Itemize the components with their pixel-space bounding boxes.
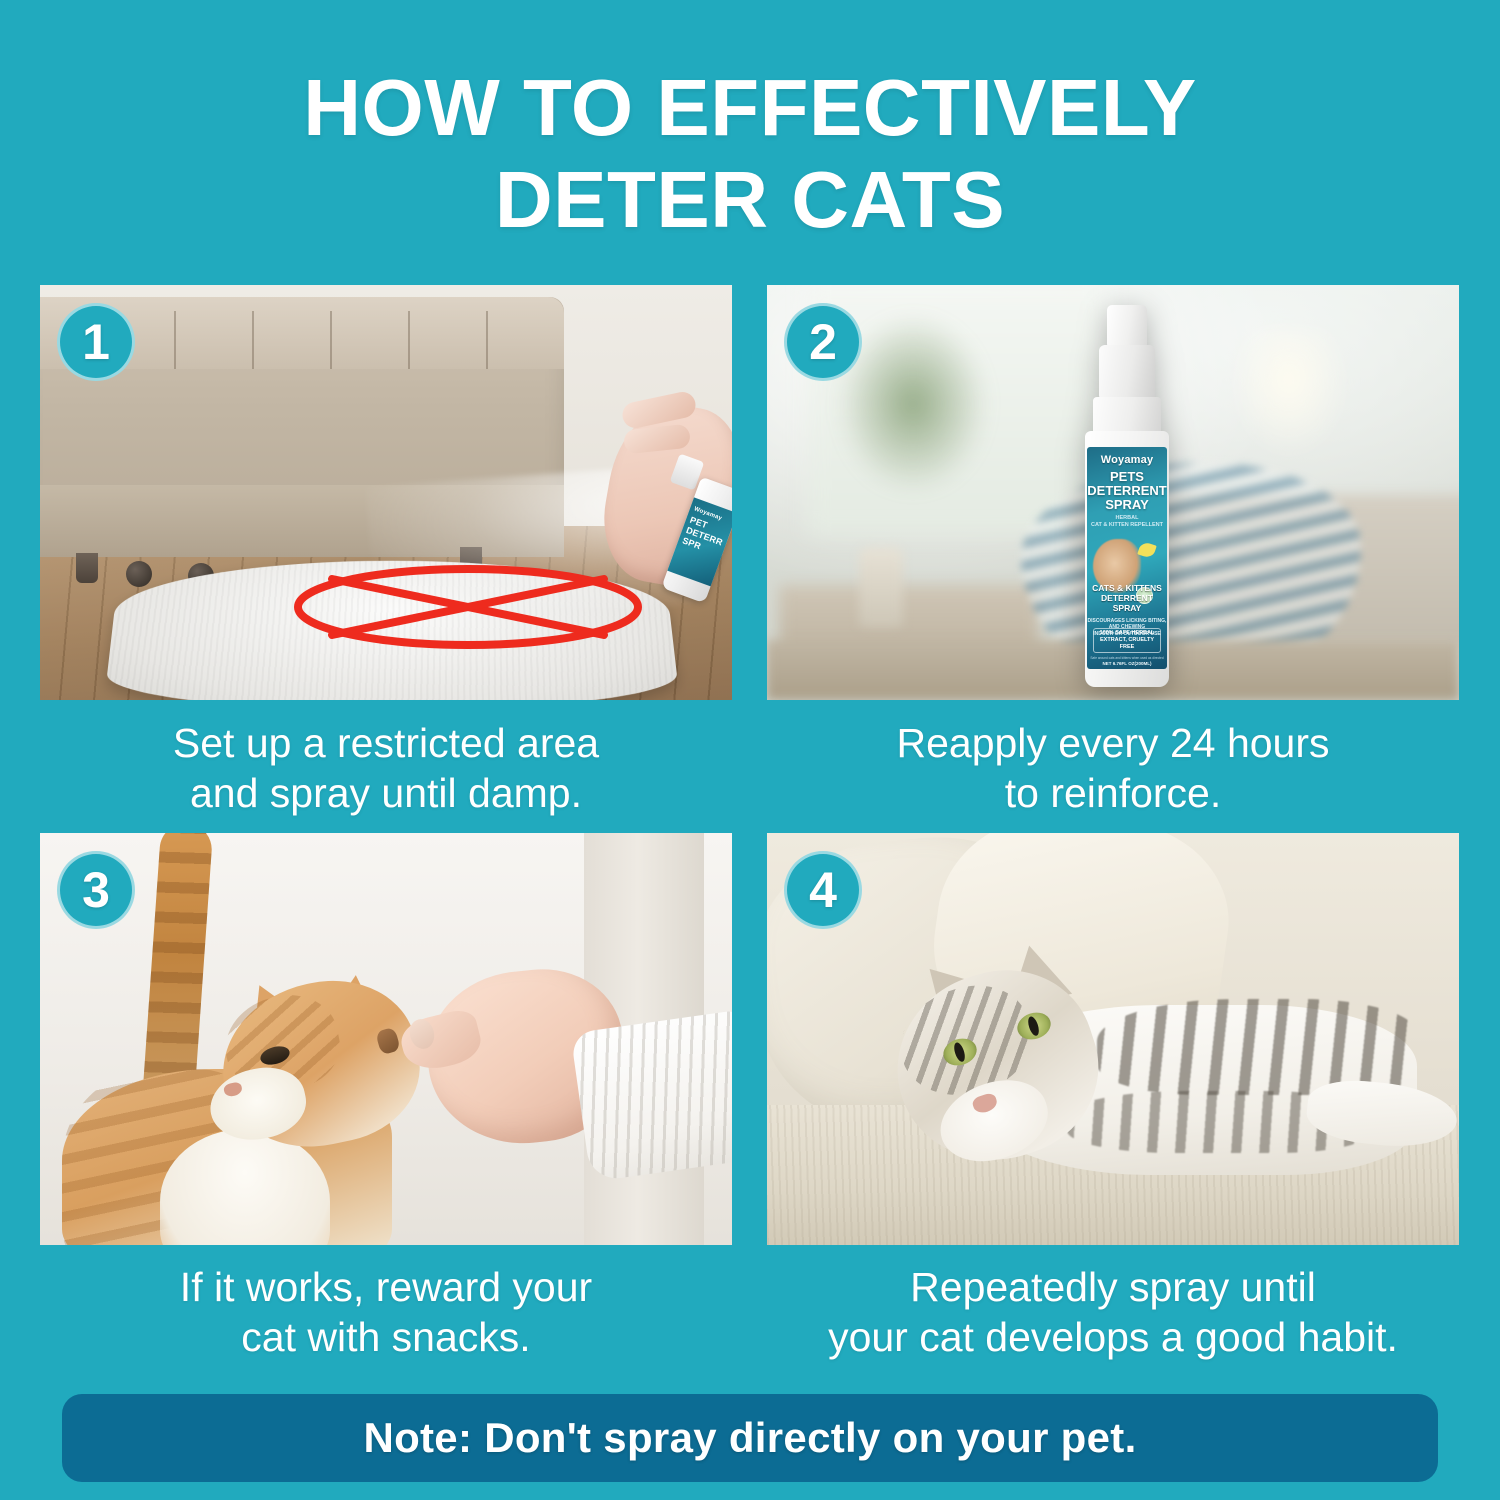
caption-2-line-2: to reinforce.: [767, 768, 1459, 818]
label-band: CATS & KITTENS DETERRENT SPRAY: [1087, 583, 1167, 613]
step-4-photo: [767, 833, 1459, 1245]
caption-3-line-1: If it works, reward your: [40, 1262, 732, 1312]
step-number-3: 3: [82, 865, 110, 915]
step-caption-4: Repeatedly spray until your cat develops…: [767, 1262, 1459, 1362]
product-spray-bottle: Woyamay PETS DETERRENT SPRAY HERBAL CAT …: [1077, 305, 1177, 687]
step-number-1: 1: [82, 317, 110, 367]
sofa-caster: [126, 561, 152, 587]
caption-4-line-1: Repeatedly spray until: [767, 1262, 1459, 1312]
step-number-4: 4: [809, 865, 837, 915]
step-panel-4: 4: [767, 833, 1459, 1245]
step-badge-2: 2: [784, 303, 862, 381]
caption-2-line-1: Reapply every 24 hours: [767, 718, 1459, 768]
step-1-photo: Woyamay PET DETERR SPR: [40, 285, 732, 700]
page-title: HOW TO EFFECTIVELY DETER CATS: [0, 62, 1500, 246]
label-subtitle-2: CAT & KITTEN REPELLENT: [1087, 522, 1167, 529]
white-knit-sleeve: [570, 1010, 732, 1182]
title-line-1: HOW TO EFFECTIVELY: [0, 62, 1500, 154]
title-line-2: DETER CATS: [0, 154, 1500, 246]
label-title-2: DETERRENT: [1087, 484, 1167, 498]
label-fine-print: Safe around cats and kittens when used a…: [1087, 656, 1167, 660]
step-badge-3: 3: [57, 851, 135, 929]
label-band-2: DETERRENT SPRAY: [1087, 593, 1167, 613]
label-title-1: PETS: [1087, 470, 1167, 484]
label-claim-1: 100% SAFE HERBAL: [1094, 630, 1160, 637]
step-panel-2: Woyamay PETS DETERRENT SPRAY HERBAL CAT …: [767, 285, 1459, 700]
label-band-1: CATS & KITTENS: [1087, 583, 1167, 593]
lamp-glow: [1229, 329, 1349, 459]
step-number-2: 2: [809, 317, 837, 367]
step-caption-3: If it works, reward your cat with snacks…: [40, 1262, 732, 1362]
step-caption-2: Reapply every 24 hours to reinforce.: [767, 718, 1459, 818]
step-panel-1: Woyamay PET DETERR SPR 1: [40, 285, 732, 700]
step-3-photo: [40, 833, 732, 1245]
vase: [859, 547, 903, 627]
step-2-photo: Woyamay PETS DETERRENT SPRAY HERBAL CAT …: [767, 285, 1459, 700]
caption-3-line-2: cat with snacks.: [40, 1312, 732, 1362]
label-claim: 100% SAFE HERBAL EXTRACT, CRUELTY FREE: [1093, 628, 1161, 653]
note-banner: Note: Don't spray directly on your pet.: [62, 1394, 1438, 1482]
caption-1-line-2: and spray until damp.: [40, 768, 732, 818]
step-badge-4: 4: [784, 851, 862, 929]
note-text: Note: Don't spray directly on your pet.: [363, 1414, 1136, 1462]
caption-1-line-1: Set up a restricted area: [40, 718, 732, 768]
step-panel-3: 3: [40, 833, 732, 1245]
bottle-collar: [1099, 345, 1155, 401]
step-badge-1: 1: [57, 303, 135, 381]
label-claim-2: EXTRACT, CRUELTY FREE: [1094, 637, 1160, 651]
label-brand: Woyamay: [1087, 454, 1167, 466]
label-net-contents: NET 6.76FL OZ(200ML): [1087, 661, 1167, 667]
bottle-label: Woyamay PETS DETERRENT SPRAY HERBAL CAT …: [1087, 447, 1167, 669]
label-subtitle-1: HERBAL: [1087, 515, 1167, 522]
sofa-leg: [76, 553, 98, 583]
no-entry-red-cross-icon: [292, 565, 644, 649]
label-title-3: SPRAY: [1087, 498, 1167, 512]
caption-4-line-2: your cat develops a good habit.: [767, 1312, 1459, 1362]
step-caption-1: Set up a restricted area and spray until…: [40, 718, 732, 818]
bottle-nozzle: [1107, 305, 1147, 347]
